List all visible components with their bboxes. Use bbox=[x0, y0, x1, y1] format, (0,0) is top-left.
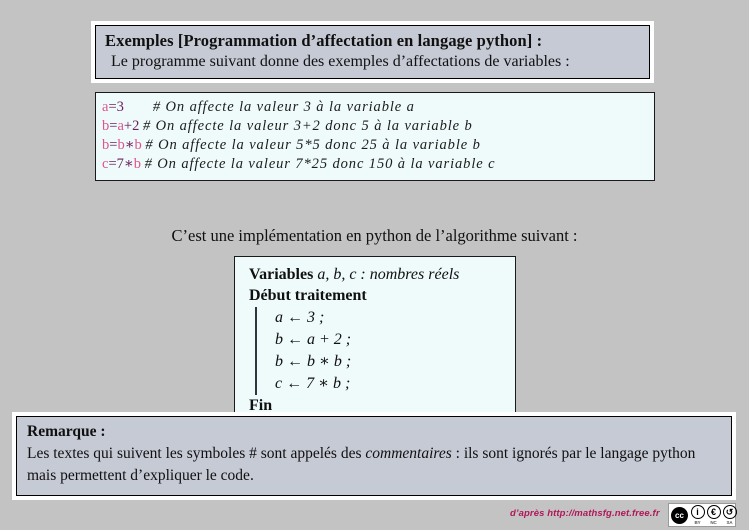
cc-logo-icon: cc bbox=[671, 507, 688, 524]
creative-commons-license-badge: cc i BY € NC ↺ SA bbox=[668, 503, 736, 527]
algorithm-begin-keyword: Début traitement bbox=[249, 287, 367, 304]
cc-sa-icon: ↺ bbox=[723, 505, 737, 519]
algorithm-step: b ← b ∗ b ; bbox=[275, 351, 505, 373]
code-gap-0 bbox=[124, 99, 153, 115]
code-statement-3: c=7∗b bbox=[102, 156, 141, 172]
cc-nc-icon: € bbox=[707, 505, 721, 519]
examples-title-box: Exemples [Programmation d’affectation en… bbox=[91, 21, 654, 83]
code-statement-0: a=3 bbox=[102, 99, 124, 115]
cc-by-item: i BY bbox=[690, 505, 705, 525]
cc-by-label: BY bbox=[690, 520, 705, 525]
cc-by-icon: i bbox=[691, 505, 705, 519]
code-statement-1: b=a+2 bbox=[102, 118, 139, 134]
code-line: a=3 # On affecte la valeur 3 à la variab… bbox=[102, 98, 648, 117]
algorithm-step: a ← 3 ; bbox=[275, 307, 505, 329]
cc-nc-label: NC bbox=[706, 520, 721, 525]
examples-title-line1: Exemples [Programmation d’affectation en… bbox=[105, 31, 640, 52]
examples-title-inner: Exemples [Programmation d’affectation en… bbox=[95, 25, 650, 79]
code-statement-2: b=b∗b bbox=[102, 137, 142, 153]
code-comment-1: # On affecte la valeur 3+2 donc 5 à la v… bbox=[143, 118, 473, 134]
cc-sa-label: SA bbox=[722, 520, 737, 525]
remark-box-inner: Remarque : Les textes qui suivent les sy… bbox=[16, 416, 732, 496]
remark-body: Les textes qui suivent les symboles # so… bbox=[27, 443, 721, 487]
cc-nc-item: € NC bbox=[706, 505, 721, 525]
algorithm-variables-line: Variables a, b, c : nombres réels bbox=[249, 264, 505, 285]
examples-title-line2: Le programme suivant donne des exemples … bbox=[105, 52, 640, 73]
code-comment-0: # On affecte la valeur 3 à la variable a bbox=[153, 99, 415, 115]
remark-box: Remarque : Les textes qui suivent les sy… bbox=[12, 412, 736, 500]
algorithm-step: b ← a + 2 ; bbox=[275, 329, 505, 351]
code-line: b=a+2 # On affecte la valeur 3+2 donc 5 … bbox=[102, 117, 648, 136]
algorithm-box: Variables a, b, c : nombres réels Début … bbox=[234, 256, 516, 425]
code-comment-2: # On affecte la valeur 5*5 donc 25 à la … bbox=[145, 137, 480, 153]
code-line: c=7∗b # On affecte la valeur 7*25 donc 1… bbox=[102, 155, 648, 174]
code-comment-3: # On affecte la valeur 7*25 donc 150 à l… bbox=[145, 156, 496, 172]
algorithm-variables-keyword: Variables bbox=[249, 266, 313, 283]
remark-body-emphasis: commentaires bbox=[365, 445, 451, 462]
remark-body-part1: Les textes qui suivent les symboles # so… bbox=[27, 445, 365, 462]
remark-title: Remarque : bbox=[27, 422, 721, 443]
code-line: b=b∗b # On affecte la valeur 5*5 donc 25… bbox=[102, 136, 648, 155]
cc-sa-item: ↺ SA bbox=[722, 505, 737, 525]
source-credit: d’après http://mathsfg.net.free.fr bbox=[510, 508, 660, 519]
python-code-block: a=3 # On affecte la valeur 3 à la variab… bbox=[95, 92, 655, 181]
algorithm-steps: a ← 3 ; b ← a + 2 ; b ← b ∗ b ; c ← 7 ∗ … bbox=[255, 307, 505, 395]
algorithm-step: c ← 7 ∗ b ; bbox=[275, 373, 505, 395]
cc-icon-group: i BY € NC ↺ SA bbox=[690, 505, 738, 525]
algorithm-variables-decl: a, b, c : nombres réels bbox=[317, 266, 459, 283]
implementation-caption: C’est une implémentation en python de l’… bbox=[0, 226, 749, 246]
algorithm-begin-line: Début traitement bbox=[249, 285, 505, 306]
